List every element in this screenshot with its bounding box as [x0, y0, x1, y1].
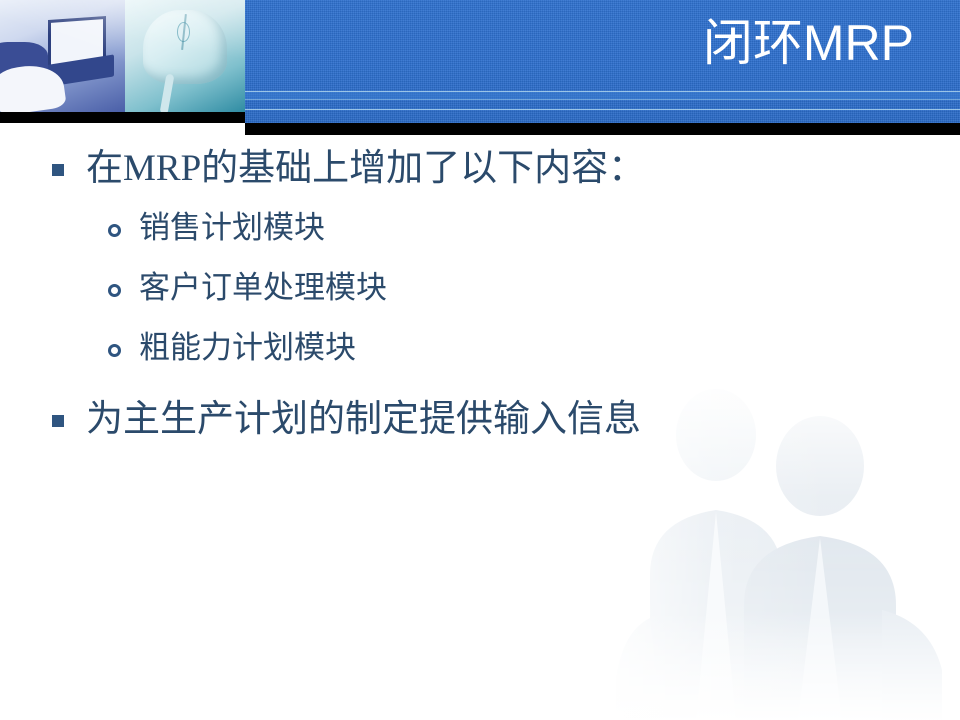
slide-body: 在MRP的基础上增加了以下内容： 销售计划模块 客户订单处理模块 粗能力计划模块…	[0, 146, 960, 460]
square-bullet-icon	[52, 415, 64, 427]
bullet-item-level1[interactable]: 为主生产计划的制定提供输入信息	[52, 397, 960, 442]
slide-title: 闭环MRP	[703, 16, 914, 71]
circle-bullet-icon	[108, 284, 121, 297]
bullet-text: 在MRP的基础上增加了以下内容：	[86, 146, 645, 191]
square-bullet-icon	[52, 164, 64, 176]
mouse-photo	[125, 0, 245, 112]
header-photo-strip	[0, 0, 245, 112]
bullet-text: 销售计划模块	[139, 209, 325, 247]
bullet-item-level2[interactable]: 客户订单处理模块	[108, 269, 960, 307]
bullet-item-level1[interactable]: 在MRP的基础上增加了以下内容：	[52, 146, 960, 191]
presentation-slide: 闭环MRP 在MRP的基础上增加了以下内容： 销售计划模块 客户订单处理模块 粗…	[0, 0, 960, 720]
bullet-item-level2[interactable]: 销售计划模块	[108, 209, 960, 247]
header-right-black-bar	[245, 123, 960, 135]
slide-header: 闭环MRP	[0, 0, 960, 135]
header-left-black-bar	[0, 112, 245, 123]
laptop-photo	[0, 0, 125, 112]
bullet-text: 粗能力计划模块	[139, 329, 356, 367]
circle-bullet-icon	[108, 344, 121, 357]
bullet-text: 为主生产计划的制定提供输入信息	[86, 397, 641, 442]
bullet-text: 客户订单处理模块	[139, 269, 387, 307]
bullet-item-level2[interactable]: 粗能力计划模块	[108, 329, 960, 367]
circle-bullet-icon	[108, 224, 121, 237]
